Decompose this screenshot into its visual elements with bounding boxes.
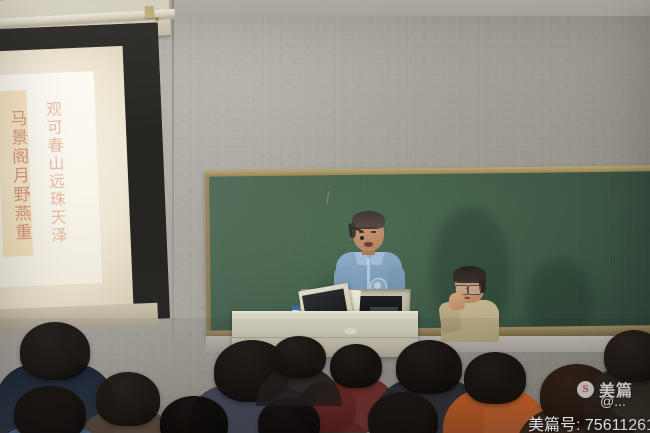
- eyeglasses-bridge: [466, 288, 469, 289]
- projection-screen: 马景阁月野燕重 观可春山远珠天泽: [0, 22, 172, 331]
- audience-far-right-dark-head: [604, 330, 650, 382]
- ceiling-band: [150, 0, 650, 16]
- audience-child-left-head: [96, 372, 160, 426]
- podium-knob: [344, 328, 357, 336]
- blackboard-surface: [209, 171, 650, 330]
- meipian-handle: @...: [600, 393, 626, 409]
- podium-top-surface: [232, 311, 418, 316]
- wall-seam: [172, 0, 174, 340]
- speaker-right-eye: [371, 231, 376, 233]
- audience-orange-shirt-head: [464, 352, 526, 404]
- speaker-shirt-logo-inner: [374, 282, 381, 289]
- podium-panel-seam: [232, 337, 418, 338]
- audience-plaid-cap-head: [330, 344, 382, 388]
- eyeglasses-right-lens: [468, 285, 481, 295]
- speaker-brow: [358, 227, 378, 229]
- audience-blue-shirt-boy-head: [14, 386, 86, 433]
- speaker-mouth: [364, 242, 373, 247]
- meipian-logo-icon: S: [577, 381, 594, 398]
- water-bottle-cap: [292, 306, 299, 310]
- lecture-hall-photo: 马景阁月野燕重 观可春山远珠天泽: [0, 0, 650, 433]
- screen-mount-bracket: [145, 6, 155, 18]
- audience-center-right-male-head: [396, 340, 462, 394]
- headset-mic-capsule: [360, 236, 364, 240]
- audience-behind-podium-head: [272, 336, 326, 378]
- screen-mount-screw: [155, 17, 159, 21]
- meipian-id-text: 美篇号: 75611261: [528, 411, 650, 433]
- audience-front-left-navy-head: [20, 322, 90, 380]
- seated-man-hand: [449, 293, 465, 310]
